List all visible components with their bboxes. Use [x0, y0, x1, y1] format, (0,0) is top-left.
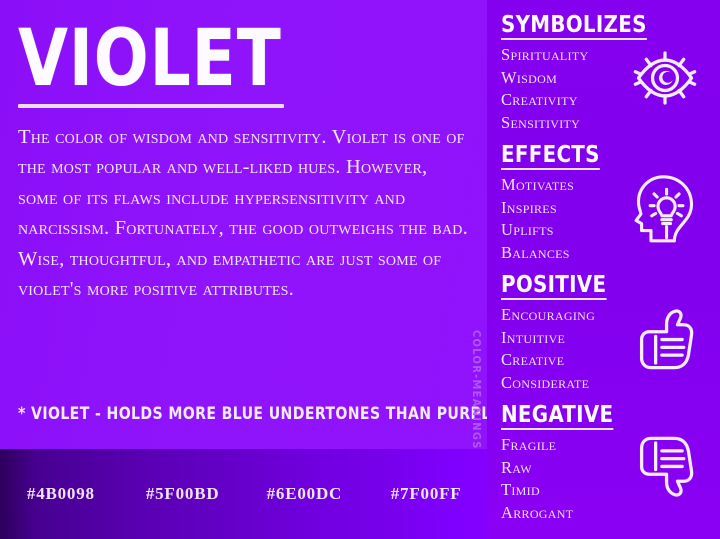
section-list: Spirituality Wisdom Creativity Sensitivi…: [501, 44, 710, 134]
page-title: VIOLET: [18, 22, 449, 97]
section-list: Motivates Inspires Uplifts Balances: [501, 174, 710, 264]
list-item: Arrogant: [501, 502, 710, 525]
section-list: Encouraging Intuitive Creative Considera…: [501, 304, 710, 394]
list-item: Creativity: [501, 89, 710, 112]
list-item: Wisdom: [501, 67, 710, 90]
section-heading: NEGATIVE: [501, 403, 613, 430]
section-heading: SYMBOLIZES: [501, 13, 647, 40]
description-paragraph: The color of wisdom and sensitivity. Vio…: [18, 122, 470, 305]
list-item: Balances: [501, 242, 710, 265]
list-item: Timid: [501, 479, 710, 502]
right-panel: SYMBOLIZES Spirituality Wisdom Creativit…: [487, 0, 720, 539]
section-negative: NEGATIVE Fragile Raw Timid Arrogant: [501, 403, 710, 533]
list-item: Considerate: [501, 372, 710, 395]
list-item: Encouraging: [501, 304, 710, 327]
section-positive: POSITIVE Encouraging Intuitive Creative …: [501, 273, 710, 403]
list-item: Uplifts: [501, 219, 710, 242]
swatch-hex-label: #7F00FF: [365, 484, 487, 504]
swatch-hex-label: #6E00DC: [244, 484, 366, 504]
list-item: Creative: [501, 349, 710, 372]
title-underline: [18, 104, 284, 108]
swatch-hex-label: #5F00BD: [122, 484, 244, 504]
list-item: Raw: [501, 457, 710, 480]
list-item: Sensitivity: [501, 112, 710, 135]
list-item: Spirituality: [501, 44, 710, 67]
violet-color-infographic: VIOLET The color of wisdom and sensitivi…: [0, 0, 720, 539]
section-list: Fragile Raw Timid Arrogant: [501, 434, 710, 524]
list-item: Fragile: [501, 434, 710, 457]
section-heading: POSITIVE: [501, 273, 606, 300]
list-item: Inspires: [501, 197, 710, 220]
color-swatch-strip: #4B0098 #5F00BD #6E00DC #7F00FF: [0, 449, 487, 539]
section-symbolizes: SYMBOLIZES Spirituality Wisdom Creativit…: [501, 13, 710, 143]
list-item: Motivates: [501, 174, 710, 197]
section-effects: EFFECTS Motivates Inspires Uplifts Balan…: [501, 143, 710, 273]
list-item: Intuitive: [501, 327, 710, 350]
left-panel: VIOLET The color of wisdom and sensitivi…: [0, 0, 487, 539]
section-heading: EFFECTS: [501, 143, 600, 170]
swatch-hex-label: #4B0098: [0, 484, 122, 504]
footnote-text: * VIOLET - HOLDS MORE BLUE UNDERTONES TH…: [18, 404, 501, 423]
